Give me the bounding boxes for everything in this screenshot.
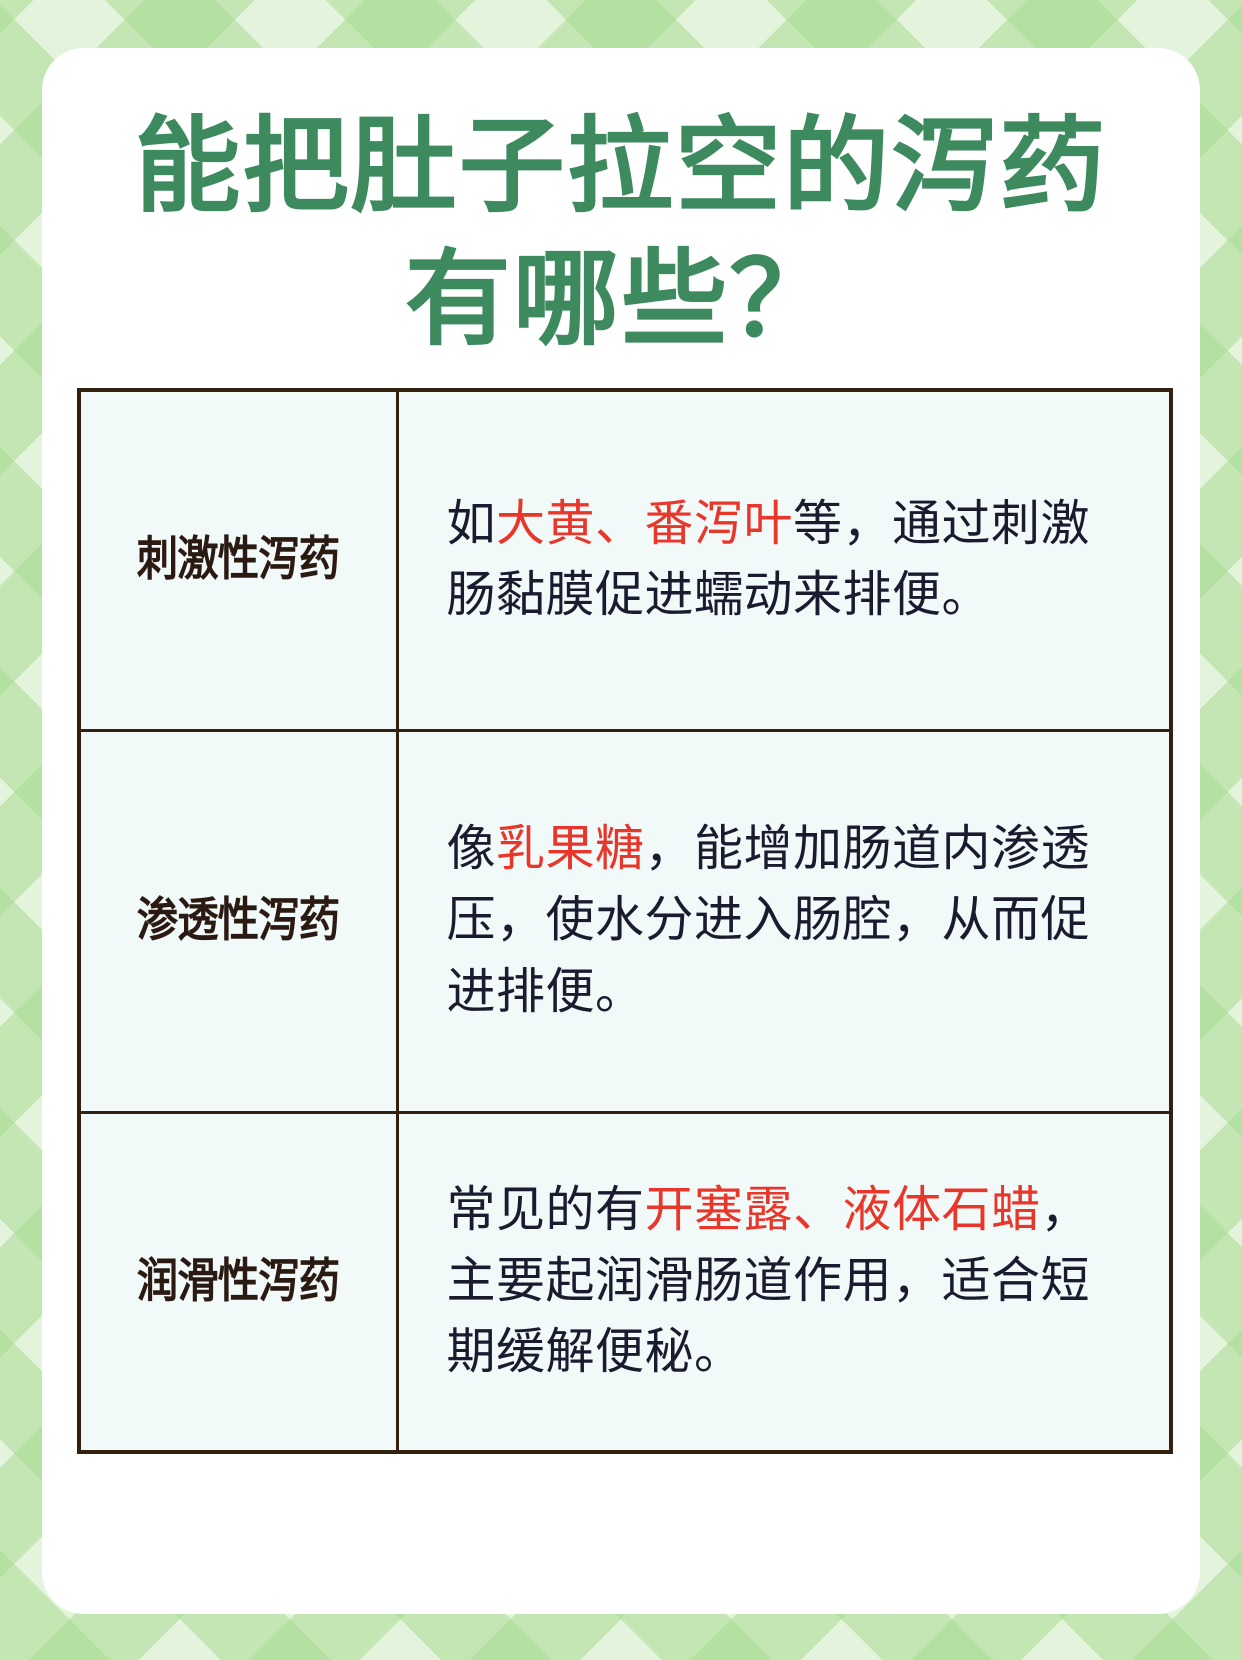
description-text: 如大黄、番泻叶等，通过刺激肠黏膜促进蠕动来排便。 bbox=[447, 489, 1140, 631]
table-body: 刺激性泻药 如大黄、番泻叶等，通过刺激肠黏膜促进蠕动来排便。 渗透性泻药 像乳果… bbox=[79, 390, 1171, 1452]
page-title-line-2: 有哪些？ bbox=[51, 233, 1191, 366]
highlighted-drug-name: 开塞露、液体石蜡 bbox=[645, 1183, 1041, 1237]
description-text: 常见的有开塞露、液体石蜡，主要起润滑肠道作用，适合短期缓解便秘。 bbox=[447, 1175, 1140, 1388]
content-card: 能把肚子拉空的泻药 有哪些？ 刺激性泻药 如大黄、番泻叶等，通过刺激肠黏膜促进蠕… bbox=[42, 48, 1200, 1614]
table-row: 渗透性泻药 像乳果糖，能增加肠道内渗透压，使水分进入肠腔，从而促进排便。 bbox=[79, 730, 1171, 1112]
description-segment: 如 bbox=[447, 497, 497, 551]
description-cell: 像乳果糖，能增加肠道内渗透压，使水分进入肠腔，从而促进排便。 bbox=[397, 730, 1171, 1112]
category-cell: 渗透性泻药 bbox=[79, 730, 397, 1112]
table-row: 润滑性泻药 常见的有开塞露、液体石蜡，主要起润滑肠道作用，适合短期缓解便秘。 bbox=[79, 1112, 1171, 1452]
category-label: 润滑性泻药 bbox=[137, 1256, 339, 1308]
description-segment: 常见的有 bbox=[447, 1183, 645, 1237]
description-segment: 像 bbox=[447, 822, 497, 876]
category-label: 刺激性泻药 bbox=[137, 534, 339, 586]
description-cell: 常见的有开塞露、液体石蜡，主要起润滑肠道作用，适合短期缓解便秘。 bbox=[397, 1112, 1171, 1452]
description-text: 像乳果糖，能增加肠道内渗透压，使水分进入肠腔，从而促进排便。 bbox=[447, 814, 1140, 1027]
laxative-types-table: 刺激性泻药 如大黄、番泻叶等，通过刺激肠黏膜促进蠕动来排便。 渗透性泻药 像乳果… bbox=[77, 388, 1173, 1454]
description-cell: 如大黄、番泻叶等，通过刺激肠黏膜促进蠕动来排便。 bbox=[397, 390, 1171, 730]
highlighted-drug-name: 乳果糖 bbox=[496, 822, 645, 876]
page-title-line-1: 能把肚子拉空的泻药 bbox=[51, 100, 1191, 233]
table-row: 刺激性泻药 如大黄、番泻叶等，通过刺激肠黏膜促进蠕动来排便。 bbox=[79, 390, 1171, 730]
page-title: 能把肚子拉空的泻药 有哪些？ bbox=[42, 100, 1200, 366]
highlighted-drug-name: 大黄、番泻叶 bbox=[496, 497, 793, 551]
category-label: 渗透性泻药 bbox=[137, 895, 339, 947]
category-cell: 刺激性泻药 bbox=[79, 390, 397, 730]
category-cell: 润滑性泻药 bbox=[79, 1112, 397, 1452]
